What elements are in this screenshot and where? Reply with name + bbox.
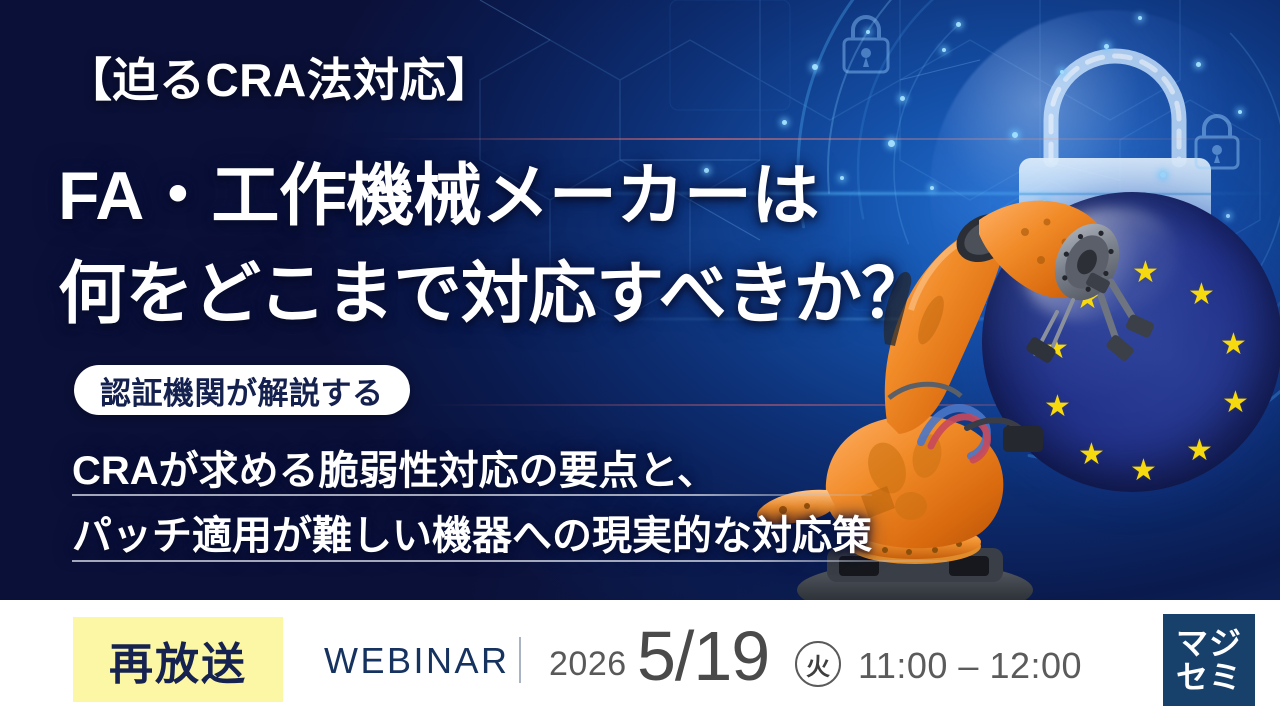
webinar-label: WEBINAR	[324, 640, 510, 682]
padlock-icon-small-right	[1188, 108, 1246, 174]
webinar-banner: ★ ★ ★ ★ ★ ★ ★ ★ ★ ★	[0, 0, 1280, 720]
page-title-line-1: FA・工作機械メーカーは	[58, 140, 819, 239]
majisemi-logo: マジ セミ	[1163, 614, 1255, 706]
page-title-line-2: 何をどこまで対応すべきか？	[58, 238, 929, 337]
event-year: 2026	[549, 645, 627, 684]
event-date: 5/19	[637, 616, 769, 696]
event-weekday-badge: 火	[795, 641, 841, 687]
eyebrow-text: 【迫るCRA法対応】	[66, 44, 493, 110]
logo-line-2: セミ	[1176, 661, 1242, 693]
subtitle-rule-2	[72, 560, 947, 562]
subtitle-line-2: パッチ適用が難しい機器への現実的な対応策	[72, 503, 872, 561]
speaker-pill-badge: 認証機関が解説する	[74, 365, 410, 415]
padlock-icon-small-left	[835, 8, 897, 78]
footer-divider	[519, 637, 521, 683]
logo-line-1: マジ	[1176, 627, 1242, 659]
rebroadcast-badge: 再放送	[73, 617, 283, 702]
subtitle-rule-1	[72, 494, 872, 496]
subtitle-line-1: CRAが求める脆弱性対応の要点と、	[72, 438, 717, 496]
event-time-range: 11:00 – 12:00	[858, 645, 1082, 687]
footer-bar: 再放送 WEBINAR 2026 5/19	[0, 600, 1280, 720]
